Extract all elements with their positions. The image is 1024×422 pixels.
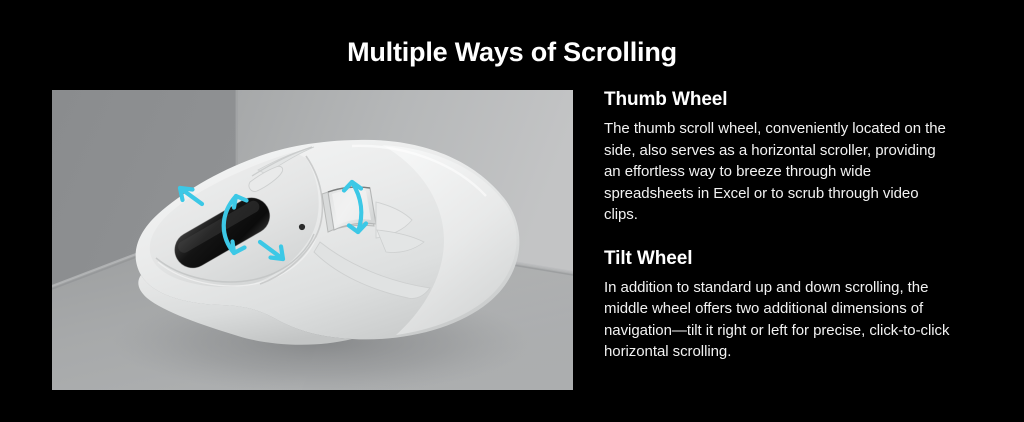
feature-heading-tilt-wheel: Tilt Wheel xyxy=(604,247,956,271)
led-indicator-dot xyxy=(299,224,305,230)
feature-text-column: Thumb Wheel The thumb scroll wheel, conv… xyxy=(604,88,956,363)
feature-body-tilt-wheel: In addition to standard up and down scro… xyxy=(604,277,956,363)
feature-body-thumb-wheel: The thumb scroll wheel, conveniently loc… xyxy=(604,118,956,226)
product-photo xyxy=(52,90,573,390)
promo-banner: Multiple Ways of Scrolling xyxy=(0,0,1024,422)
page-title: Multiple Ways of Scrolling xyxy=(0,35,1024,69)
feature-tilt-wheel: Tilt Wheel In addition to standard up an… xyxy=(604,247,956,363)
feature-thumb-wheel: Thumb Wheel The thumb scroll wheel, conv… xyxy=(604,88,956,226)
feature-heading-thumb-wheel: Thumb Wheel xyxy=(604,88,956,112)
